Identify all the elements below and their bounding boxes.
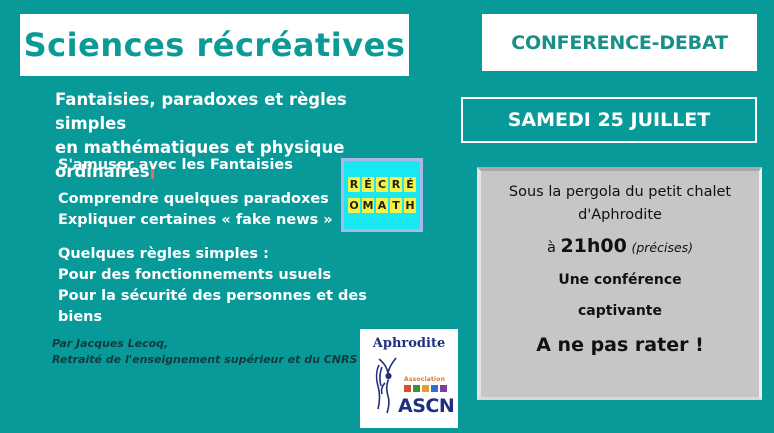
topic-line: Pour des fonctionnements usuels: [58, 265, 398, 286]
credit-line-1: Par Jacques Lecoq,: [52, 336, 357, 352]
strip-icon-amber: [422, 385, 429, 392]
aphrodite-ascn-logo: Aphrodite Association ASCN: [360, 329, 458, 428]
recreomath-row-1: R É C R É: [348, 177, 416, 192]
topic-line: Pour la sécurité des personnes et des bi…: [58, 286, 398, 328]
topic-line: Quelques règles simples :: [58, 244, 398, 265]
recreomath-tile: M: [362, 198, 374, 213]
list-item: Quelques règles simples : Pour des fonct…: [58, 244, 398, 328]
recreomath-tile: O: [348, 198, 360, 213]
event-time: à 21h00 (précises): [495, 236, 745, 258]
venue-line-1: Sous la pergola du petit chalet: [495, 183, 745, 202]
teaser-line-2: captivante: [495, 301, 745, 321]
title-banner: Sciences récréatives: [20, 14, 409, 76]
time-prefix: à: [547, 240, 556, 256]
recreomath-tile: A: [376, 198, 388, 213]
call-to-action: A ne pas rater !: [495, 334, 745, 356]
venue-line-2: d'Aphrodite: [495, 206, 745, 225]
poster-root: Sciences récréatives Fantaisies, paradox…: [0, 0, 774, 433]
aphrodite-association-label: Association: [404, 376, 445, 383]
aphrodite-wordmark: Aphrodite: [360, 336, 458, 351]
strip-icon-purple: [440, 385, 447, 392]
ascn-acronym: ASCN: [398, 395, 454, 417]
recreomath-tile: É: [404, 177, 416, 192]
conference-banner: CONFERENCE-DEBAT: [482, 14, 757, 71]
strip-icon-red: [404, 385, 411, 392]
recreomath-tile: C: [376, 177, 388, 192]
credit-line-2: Retraité de l'enseignement supérieur et …: [52, 352, 357, 368]
recreomath-logo-inner: R É C R É O M A T H: [344, 161, 420, 229]
subtitle-line-1: Fantaisies, paradoxes et règles simples: [55, 88, 415, 136]
page-title: Sciences récréatives: [24, 26, 406, 64]
time-value: 21h00: [560, 235, 626, 257]
time-suffix: (précises): [631, 240, 693, 255]
conference-label: CONFERENCE-DEBAT: [511, 32, 728, 54]
date-label: SAMEDI 25 JUILLET: [508, 109, 711, 131]
event-info-panel: Sous la pergola du petit chalet d'Aphrod…: [477, 167, 762, 400]
recreomath-tile: H: [404, 198, 416, 213]
strip-icon-blue: [431, 385, 438, 392]
recreomath-row-2: O M A T H: [348, 198, 416, 213]
strip-icon-green: [413, 385, 420, 392]
aphrodite-icon-strip: [404, 385, 447, 392]
recreomath-tile: T: [390, 198, 402, 213]
date-banner: SAMEDI 25 JUILLET: [461, 97, 757, 143]
recreomath-tile: É: [362, 177, 374, 192]
recreomath-tile: R: [390, 177, 402, 192]
recreomath-tile: R: [348, 177, 360, 192]
author-credit: Par Jacques Lecoq, Retraité de l'enseign…: [52, 336, 357, 368]
teaser-line-1: Une conférence: [495, 270, 745, 290]
recreomath-logo: R É C R É O M A T H: [341, 158, 423, 232]
